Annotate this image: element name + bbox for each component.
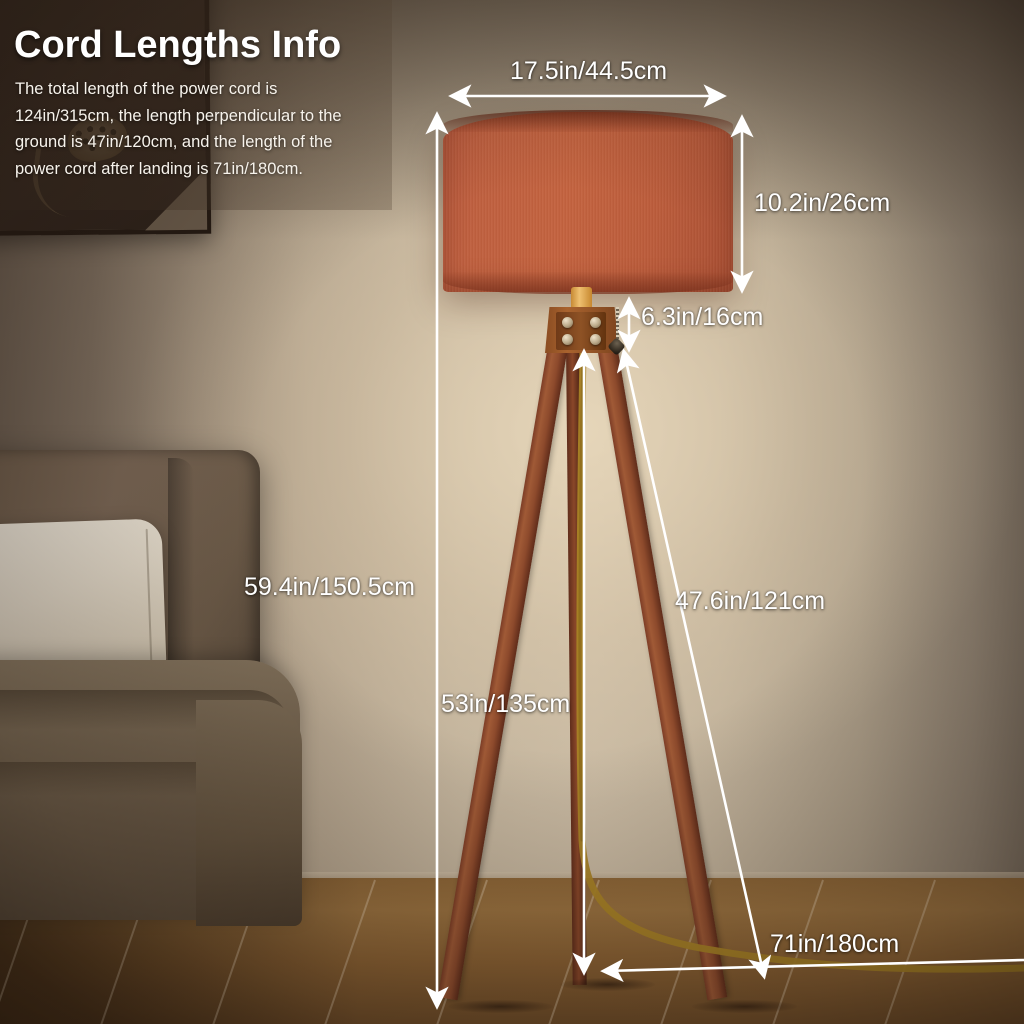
leg-foot-shadow xyxy=(692,1000,797,1013)
leg-foot-shadow xyxy=(560,978,655,991)
dimlabel-total-height: 59.4in/150.5cm xyxy=(244,573,415,602)
duvet-drape xyxy=(196,700,302,926)
head-bolt xyxy=(562,334,573,345)
dimlabel-base-to-socket: 53in/135cm xyxy=(441,690,570,719)
white-pillow xyxy=(0,518,167,677)
dimlabel-leg-length: 47.6in/121cm xyxy=(675,587,825,616)
head-bolt xyxy=(562,317,573,328)
leg-foot-shadow xyxy=(448,1000,553,1013)
dimlabel-floor-cord: 71in/180cm xyxy=(770,930,899,959)
cord-info-body: The total length of the power cord is 12… xyxy=(15,76,375,183)
lamp-shade-top-trim xyxy=(443,110,733,132)
page-title: Cord Lengths Info xyxy=(14,24,341,67)
dimlabel-shade-height: 10.2in/26cm xyxy=(754,189,890,218)
cord-info-panel: Cord Lengths Info The total length of th… xyxy=(0,0,392,210)
dimlabel-shade-width: 17.5in/44.5cm xyxy=(510,57,667,86)
lamp-shade xyxy=(443,112,733,292)
dimlabel-pull-chain: 6.3in/16cm xyxy=(641,303,763,332)
head-bolt xyxy=(590,334,601,345)
product-infographic: 17.5in/44.5cm 10.2in/26cm 6.3in/16cm 59.… xyxy=(0,0,1024,1024)
head-bolt xyxy=(590,317,601,328)
